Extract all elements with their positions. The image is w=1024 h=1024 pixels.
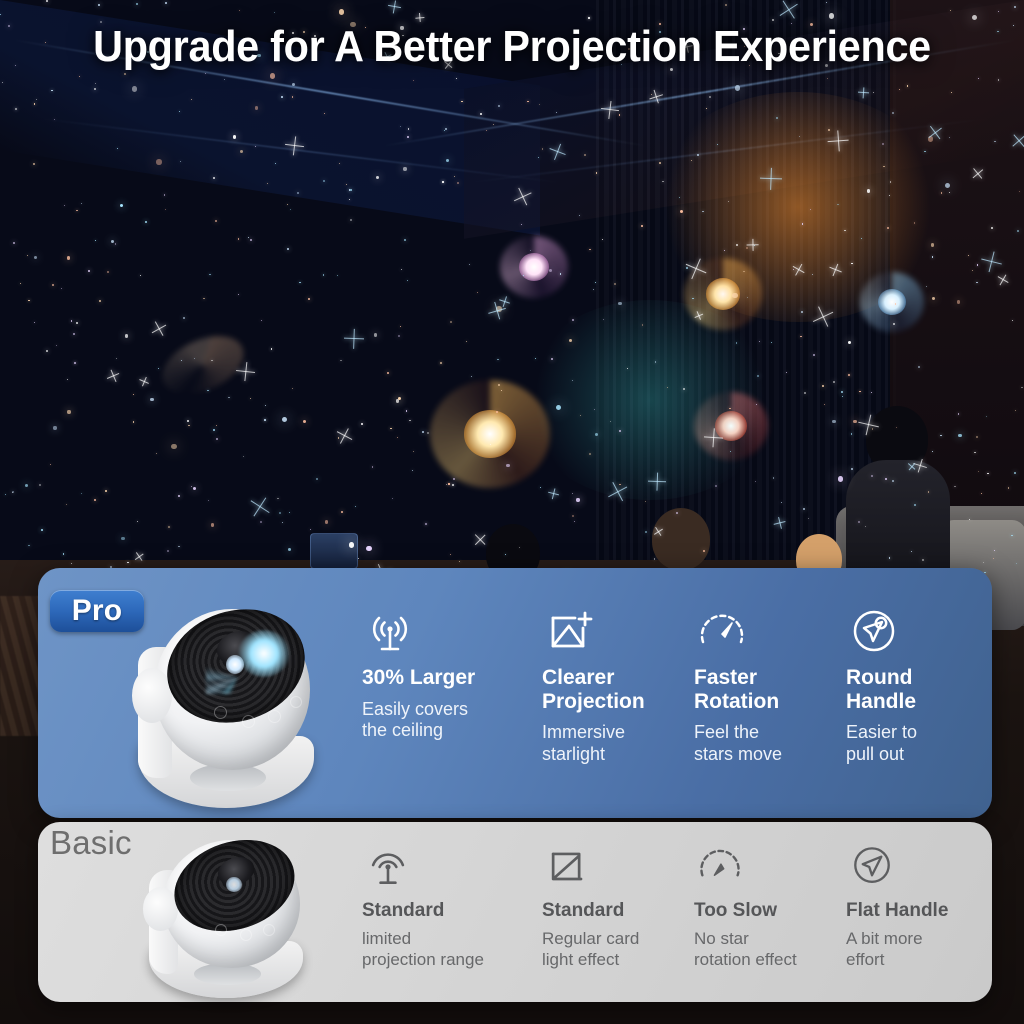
basic-feature-1-heading: Standard (362, 900, 522, 921)
basic-feature-4-heading: Flat Handle (846, 900, 1006, 921)
basic-feature-3-description: No star rotation effect (694, 929, 854, 970)
pro-feature-2-heading: Clearer Projection (542, 666, 702, 713)
basic-feature-1-description: limited projection range (362, 929, 522, 970)
pro-feature-4-description: Easier to pull out (846, 722, 1006, 765)
speedometer-fast-icon (694, 604, 854, 660)
pro-feature-2: Clearer Projection Immersive starlight (542, 604, 702, 765)
page-title: Upgrade for A Better Projection Experien… (31, 22, 994, 72)
pro-feature-3: Faster Rotation Feel the stars move (694, 604, 854, 765)
pro-feature-4-heading: Round Handle (846, 666, 1006, 713)
flat-handle-cursor-icon (846, 840, 1006, 896)
pro-feature-1-description: Easily covers the ceiling (362, 699, 522, 742)
broadcast-signal-icon (362, 604, 522, 660)
galaxy-large-orange (430, 380, 550, 488)
image-broken-icon (542, 840, 702, 896)
pro-feature-1: 30% Larger Easily covers the ceiling (362, 604, 522, 742)
pro-feature-2-description: Immersive starlight (542, 722, 702, 765)
speedometer-slow-icon (694, 840, 854, 896)
basic-feature-3: Too Slow No star rotation effect (694, 840, 854, 970)
infographic-canvas: Upgrade for A Better Projection Experien… (0, 0, 1024, 1024)
basic-feature-3-heading: Too Slow (694, 900, 854, 921)
basic-projector-image (138, 830, 314, 998)
basic-feature-2: Standard Regular card light effect (542, 840, 702, 970)
basic-feature-4-description: A bit more effort (846, 929, 1006, 970)
basic-label: Basic (50, 824, 132, 862)
image-plus-icon (542, 604, 702, 660)
galaxy-red (694, 392, 768, 460)
basic-feature-2-heading: Standard (542, 900, 702, 921)
basic-feature-1: Standard limited projection range (362, 840, 522, 970)
round-handle-cursor-icon (846, 604, 1006, 660)
media-console (310, 533, 358, 569)
basic-feature-4: Flat Handle A bit more effort (846, 840, 1006, 970)
audience-head-2 (652, 508, 710, 570)
weak-signal-icon (362, 840, 522, 896)
pro-feature-3-heading: Faster Rotation (694, 666, 854, 713)
pro-feature-1-heading: 30% Larger (362, 666, 522, 690)
pro-projector-image (126, 596, 326, 808)
pro-feature-4: Round Handle Easier to pull out (846, 604, 1006, 765)
basic-feature-2-description: Regular card light effect (542, 929, 702, 970)
galaxy-pink (500, 236, 568, 298)
pro-badge-label: Pro (72, 594, 123, 628)
pro-feature-3-description: Feel the stars move (694, 722, 854, 765)
